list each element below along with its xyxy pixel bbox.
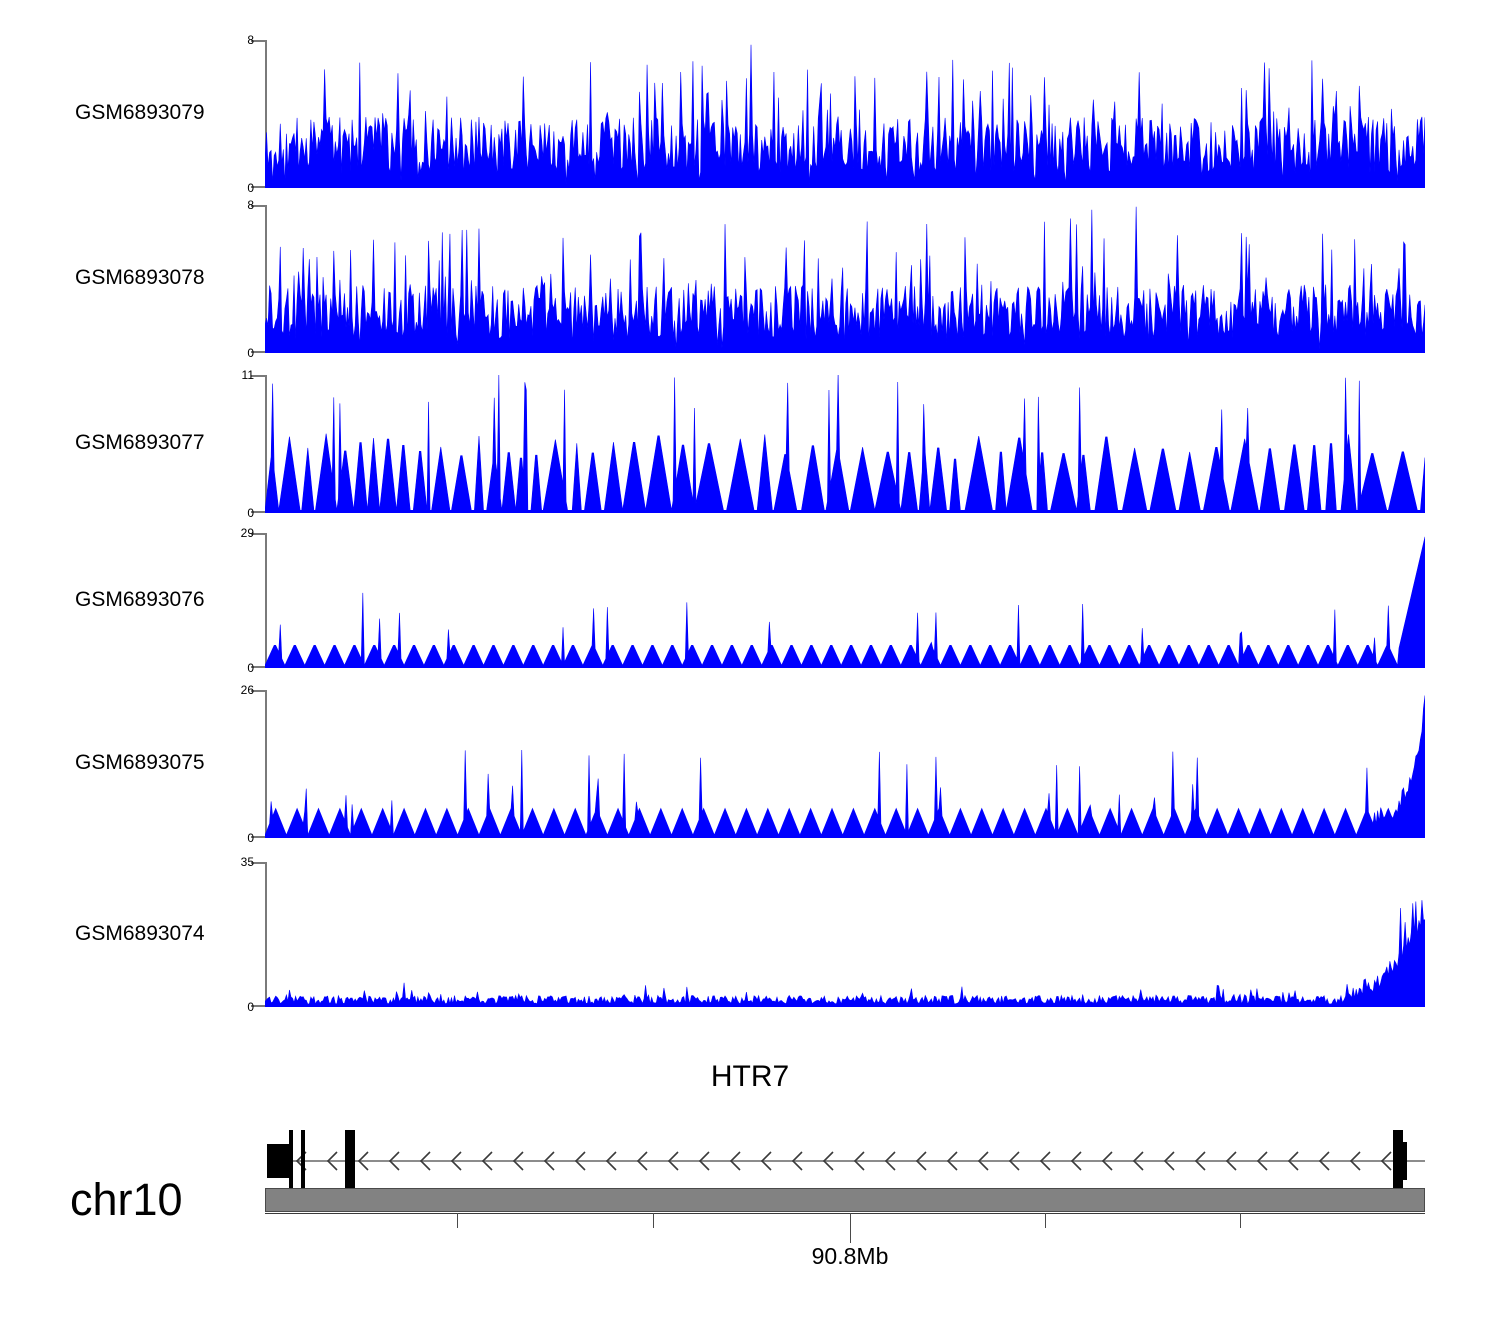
coverage-plot[interactable] bbox=[265, 40, 1425, 188]
track-label-GSM6893077: GSM6893077 bbox=[75, 432, 235, 453]
exon-box[interactable] bbox=[267, 1144, 289, 1178]
coverage-track[interactable]: GSM6893074350 bbox=[0, 862, 1500, 1007]
axis-tick-minor bbox=[1045, 1213, 1046, 1228]
y-axis-min-label: 0 bbox=[247, 662, 254, 674]
chromosome-ideogram-bar[interactable] bbox=[265, 1188, 1425, 1212]
strand-arrow-icon bbox=[1287, 1150, 1300, 1172]
y-axis-max-label: 29 bbox=[241, 527, 254, 539]
y-axis-min-label: 0 bbox=[247, 347, 254, 359]
strand-arrow-icon bbox=[1039, 1150, 1052, 1172]
y-axis-max-label: 26 bbox=[241, 684, 254, 696]
axis-baseline bbox=[265, 1213, 1425, 1214]
track-label-GSM6893079: GSM6893079 bbox=[75, 102, 235, 123]
track-label-GSM6893075: GSM6893075 bbox=[75, 752, 235, 773]
strand-arrow-icon bbox=[1225, 1150, 1238, 1172]
exon-box[interactable] bbox=[345, 1130, 355, 1192]
strand-arrow-icon bbox=[1163, 1150, 1176, 1172]
strand-arrow-icon bbox=[729, 1150, 742, 1172]
strand-arrow-icon bbox=[1380, 1150, 1393, 1172]
gene-name-label: HTR7 bbox=[0, 1060, 1500, 1094]
strand-arrow-icon bbox=[543, 1150, 556, 1172]
coverage-track[interactable]: GSM6893077110 bbox=[0, 375, 1500, 513]
coverage-plot[interactable] bbox=[265, 862, 1425, 1007]
axis-tick-major bbox=[850, 1213, 851, 1243]
coverage-plot[interactable] bbox=[265, 375, 1425, 513]
y-axis-min-label: 0 bbox=[247, 507, 254, 519]
y-axis-min-label: 0 bbox=[247, 1001, 254, 1013]
strand-arrow-icon bbox=[1194, 1150, 1207, 1172]
coverage-track[interactable]: GSM689307880 bbox=[0, 205, 1500, 353]
exon-box[interactable] bbox=[1399, 1142, 1407, 1180]
y-axis-max-label: 8 bbox=[247, 34, 254, 46]
axis-tick-minor bbox=[1240, 1213, 1241, 1228]
coverage-track[interactable]: GSM6893076290 bbox=[0, 533, 1500, 668]
y-axis-min-label: 0 bbox=[247, 182, 254, 194]
y-axis-min-label: 0 bbox=[247, 832, 254, 844]
strand-arrow-icon bbox=[388, 1150, 401, 1172]
strand-arrow-icon bbox=[977, 1150, 990, 1172]
strand-arrow-icon bbox=[512, 1150, 525, 1172]
coordinate-label: 90.8Mb bbox=[812, 1243, 889, 1269]
strand-arrow-icon bbox=[1008, 1150, 1021, 1172]
strand-arrow-icon bbox=[1132, 1150, 1145, 1172]
genome-browser: GSM689307980GSM689307880GSM6893077110GSM… bbox=[0, 0, 1500, 1320]
strand-arrow-icon bbox=[357, 1150, 370, 1172]
strand-arrow-icon bbox=[574, 1150, 587, 1172]
track-label-GSM6893076: GSM6893076 bbox=[75, 589, 235, 610]
chromosome-label: chr10 bbox=[70, 1176, 183, 1224]
strand-arrow-icon bbox=[1256, 1150, 1269, 1172]
coverage-plot[interactable] bbox=[265, 205, 1425, 353]
strand-arrow-icon bbox=[667, 1150, 680, 1172]
track-label-GSM6893078: GSM6893078 bbox=[75, 267, 235, 288]
strand-arrow-icon bbox=[1070, 1150, 1083, 1172]
y-axis-max-label: 35 bbox=[241, 856, 254, 868]
strand-arrow-icon bbox=[698, 1150, 711, 1172]
strand-arrow-icon bbox=[884, 1150, 897, 1172]
axis-tick-minor bbox=[457, 1213, 458, 1228]
strand-arrow-icon bbox=[853, 1150, 866, 1172]
strand-arrow-icon bbox=[1349, 1150, 1362, 1172]
strand-arrow-icon bbox=[605, 1150, 618, 1172]
intron-line bbox=[273, 1160, 1425, 1162]
strand-arrow-icon bbox=[481, 1150, 494, 1172]
strand-arrow-icon bbox=[326, 1150, 339, 1172]
strand-arrow-icon bbox=[636, 1150, 649, 1172]
axis-tick-minor bbox=[653, 1213, 654, 1228]
gene-annotation-panel: HTR7 bbox=[0, 1050, 1500, 1200]
strand-arrow-icon bbox=[1318, 1150, 1331, 1172]
coverage-plot[interactable] bbox=[265, 690, 1425, 838]
strand-arrow-icon bbox=[760, 1150, 773, 1172]
strand-arrow-icon bbox=[822, 1150, 835, 1172]
exon-box[interactable] bbox=[289, 1130, 293, 1192]
coverage-plot[interactable] bbox=[265, 533, 1425, 668]
strand-arrow-icon bbox=[791, 1150, 804, 1172]
track-label-GSM6893074: GSM6893074 bbox=[75, 923, 235, 944]
y-axis-max-label: 11 bbox=[242, 369, 254, 381]
strand-arrow-icon bbox=[946, 1150, 959, 1172]
coordinate-axis: 90.8Mb bbox=[265, 1213, 1425, 1283]
strand-arrow-icon bbox=[1101, 1150, 1114, 1172]
strand-arrow-icon bbox=[419, 1150, 432, 1172]
exon-box[interactable] bbox=[301, 1130, 305, 1192]
coverage-track[interactable]: GSM6893075260 bbox=[0, 690, 1500, 838]
coverage-track[interactable]: GSM689307980 bbox=[0, 40, 1500, 188]
strand-arrow-icon bbox=[915, 1150, 928, 1172]
strand-arrow-icon bbox=[450, 1150, 463, 1172]
y-axis-max-label: 8 bbox=[247, 199, 254, 211]
